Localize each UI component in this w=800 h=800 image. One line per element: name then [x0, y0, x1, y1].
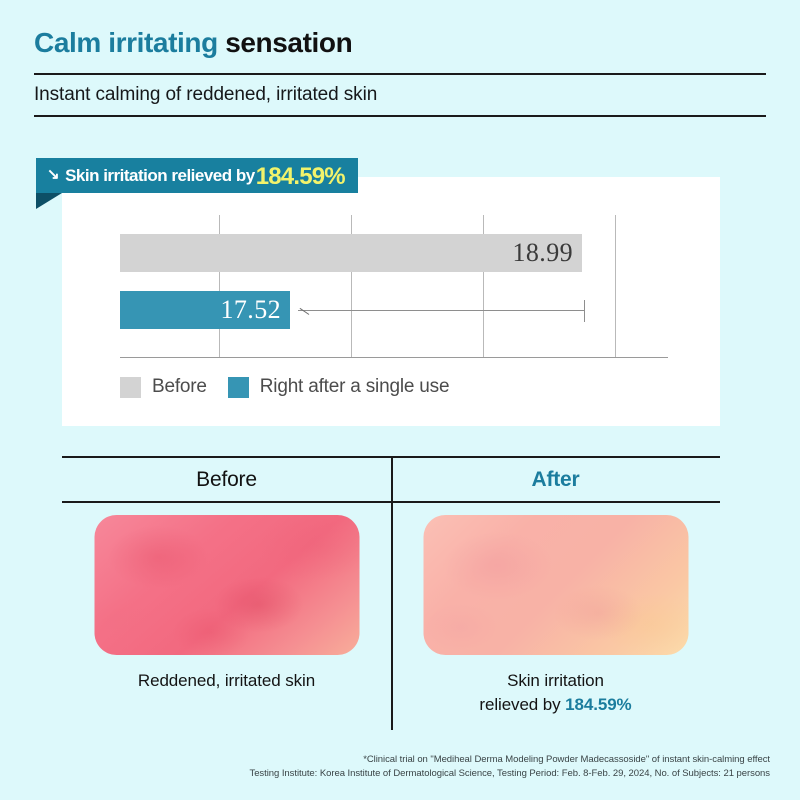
comparison-caption-after: Skin irritation relieved by 184.59% — [391, 669, 720, 717]
comparison-caption-after-line1: Skin irritation — [507, 671, 604, 690]
legend-item-before: Before — [120, 376, 207, 398]
page-title-rest: sensation — [218, 27, 352, 58]
difference-annotation-cap — [584, 300, 585, 322]
bar-before-value: 18.99 — [513, 240, 583, 266]
bar-chart-plot: 18.99 17.52 — [120, 215, 668, 357]
comparison-caption-after-percent: 184.59% — [565, 695, 631, 714]
skin-image-after — [423, 515, 688, 655]
footnote-line-2: Testing Institute: Korea Institute of De… — [250, 767, 771, 781]
bar-after: 17.52 — [120, 291, 290, 329]
difference-annotation-head — [300, 308, 310, 315]
footnote: *Clinical trial on "Mediheal Derma Model… — [250, 753, 771, 781]
page-subtitle: Instant calming of reddened, irritated s… — [34, 75, 766, 115]
page-title: Calm irritating sensation — [34, 26, 766, 60]
legend-swatch-before — [120, 377, 141, 398]
comparison-caption-after-line2: relieved by — [479, 695, 565, 714]
legend-swatch-after — [228, 377, 249, 398]
arrow-down-right-icon: ↘ — [47, 167, 59, 182]
result-badge-text: Skin irritation relieved by — [65, 166, 255, 186]
result-badge: ↘ Skin irritation relieved by 184.59% — [36, 158, 358, 193]
x-axis-baseline — [120, 357, 668, 358]
legend-item-after: Right after a single use — [228, 376, 450, 398]
result-badge-percent: 184.59% — [256, 163, 345, 191]
bar-after-value: 17.52 — [221, 297, 291, 323]
skin-image-before — [94, 515, 359, 655]
chart-card: 18.99 17.52 Before Right after a single … — [62, 177, 720, 426]
footnote-line-1: *Clinical trial on "Mediheal Derma Model… — [250, 753, 771, 767]
result-badge-tail — [36, 193, 62, 209]
legend-label-before: Before — [152, 376, 207, 398]
gridline-4 — [615, 215, 616, 357]
comparison-header-after: After — [391, 458, 720, 501]
chart-section: ↘ Skin irritation relieved by 184.59% 18… — [62, 158, 720, 426]
header-divider-bottom — [34, 115, 766, 117]
comparison-column-before: Reddened, irritated skin — [62, 501, 391, 730]
comparison-caption-before: Reddened, irritated skin — [62, 669, 391, 693]
page-header: Calm irritating sensation Instant calmin… — [34, 26, 766, 117]
comparison-section: Before After Reddened, irritated skin Sk… — [62, 456, 720, 730]
chart-legend: Before Right after a single use — [120, 376, 449, 398]
difference-annotation-line — [298, 310, 585, 311]
comparison-header-before: Before — [62, 458, 391, 501]
page-title-accent: Calm irritating — [34, 27, 218, 58]
legend-label-after: Right after a single use — [260, 376, 450, 398]
comparison-column-after: Skin irritation relieved by 184.59% — [391, 501, 720, 730]
bar-before: 18.99 — [120, 234, 582, 272]
